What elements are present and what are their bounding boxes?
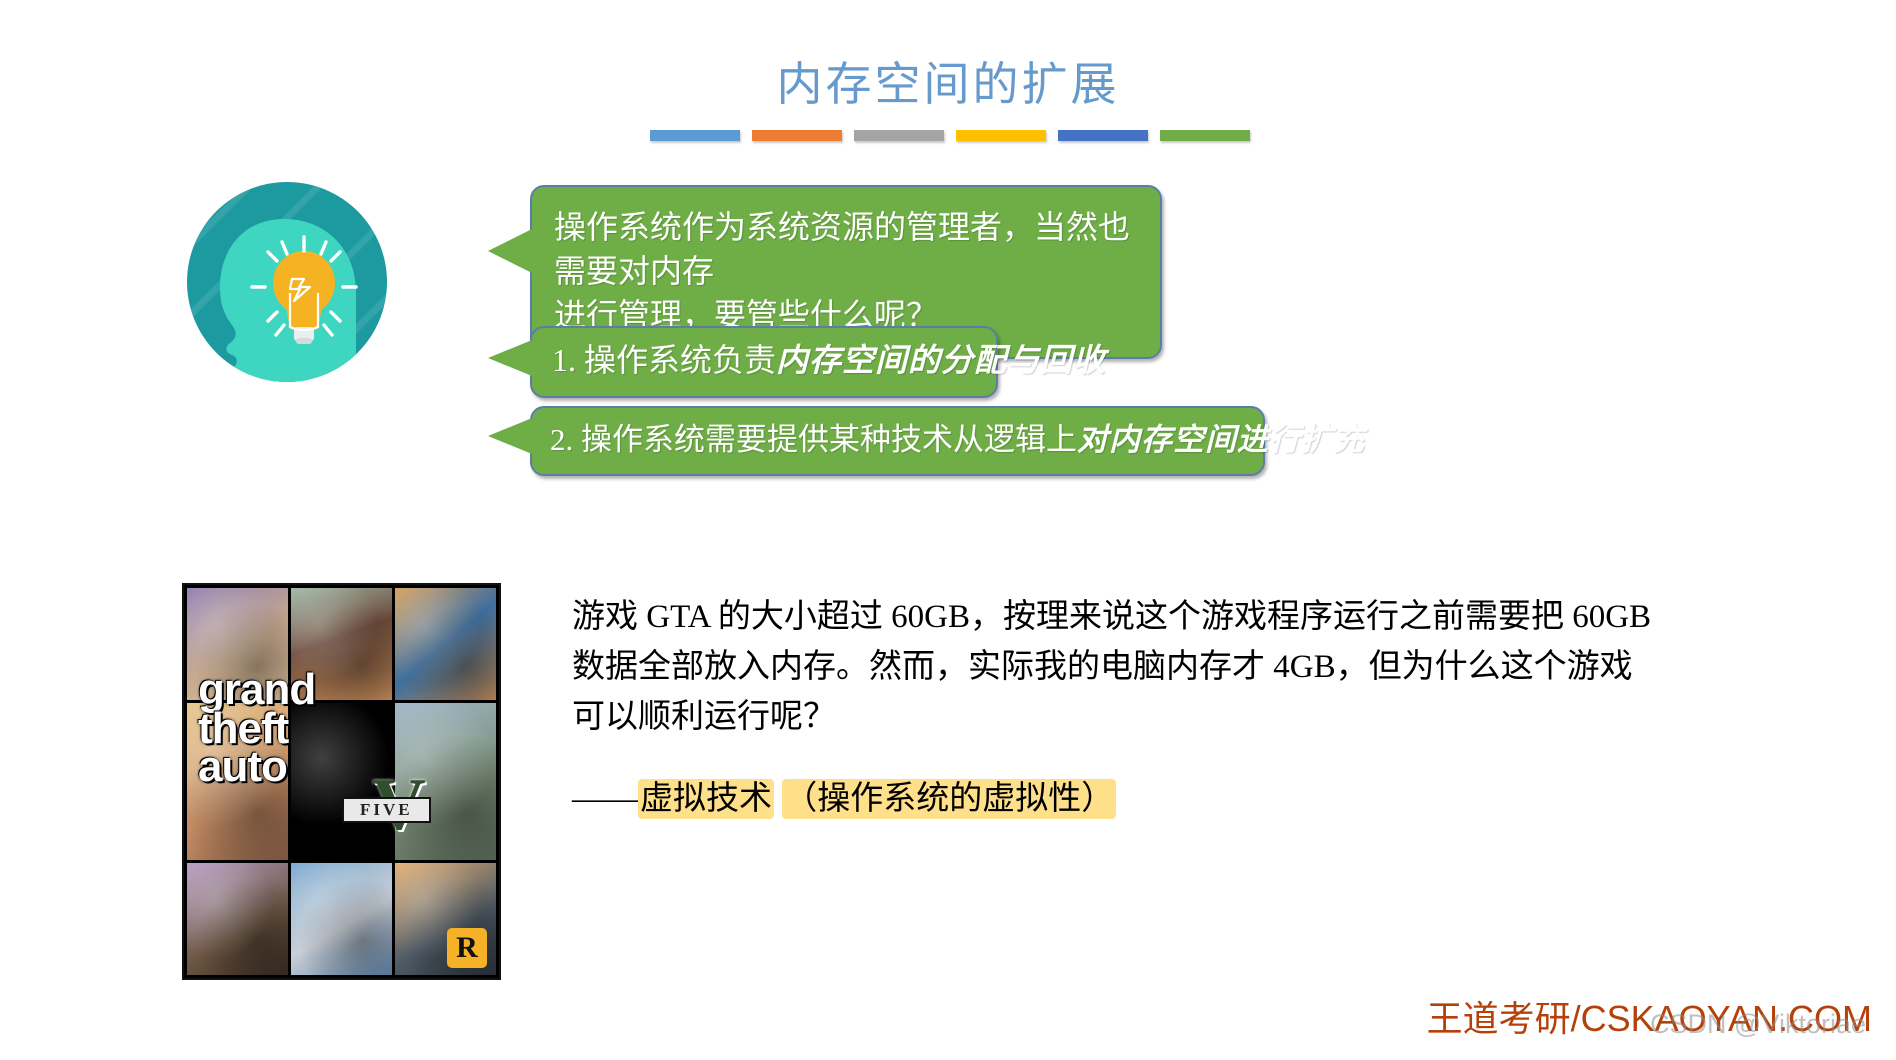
- title-bar-3: [854, 130, 944, 141]
- bubble-tail: [488, 340, 532, 376]
- speech-bubble-point-1: 1. 操作系统负责内存空间的分配与回收: [530, 326, 998, 398]
- bubble-3-emphasis: 对内存空间进行扩充: [1077, 422, 1365, 457]
- speech-bubble-point-2: 2. 操作系统需要提供某种技术从逻辑上对内存空间进行扩充: [530, 406, 1265, 476]
- page-title: 内存空间的扩展: [0, 48, 1896, 114]
- cover-panel-blonde-woman-phone: [187, 703, 288, 860]
- title-accent-bars: [650, 130, 1250, 141]
- highlight-virtual-technology: 虚拟技术: [638, 779, 774, 819]
- cover-panel-rottweiler-dog: [187, 863, 288, 975]
- bubble-tail: [488, 229, 532, 273]
- paragraph-line-2: 数据全部放入内存。然而，实际我的电脑内存才 4GB，但为什么这个游戏: [572, 642, 1752, 692]
- em-dash: ——: [572, 781, 638, 817]
- highlight-os-virtuality: （操作系统的虚拟性）: [782, 779, 1116, 819]
- title-bar-2: [752, 130, 842, 141]
- gta-explanation-paragraph: 游戏 GTA 的大小超过 60GB，按理来说这个游戏程序运行之前需要把 60GB…: [572, 592, 1752, 742]
- cover-panel-jetski-rider: [291, 863, 392, 975]
- bubble-1-line-1: 操作系统作为系统资源的管理者，当然也需要对内存: [554, 205, 1138, 293]
- cover-panel-gas-mask: [291, 588, 392, 700]
- bubble-tail: [488, 418, 532, 454]
- gta-v-game-cover: grand theft auto V FIVE R: [182, 583, 501, 980]
- cover-panel-motorbike-chase: [395, 588, 496, 700]
- callout-gap: [774, 781, 782, 817]
- bubble-2-prefix: 1. 操作系统负责: [552, 342, 776, 378]
- cover-panel-logo: [291, 703, 392, 860]
- cover-panel-helicopter: [187, 588, 288, 700]
- brain-idea-icon: [180, 175, 395, 390]
- title-bar-1: [650, 130, 740, 141]
- cover-panel-sports-car: [395, 863, 496, 975]
- virtual-technology-callout: ——虚拟技术 （操作系统的虚拟性）: [572, 771, 1116, 819]
- paragraph-line-3: 可以顺利运行呢？: [572, 692, 1752, 742]
- title-bar-4: [956, 130, 1046, 141]
- paragraph-line-1: 游戏 GTA 的大小超过 60GB，按理来说这个游戏程序运行之前需要把 60GB: [572, 592, 1752, 642]
- title-bar-5: [1058, 130, 1148, 141]
- bubble-3-prefix: 2. 操作系统需要提供某种技术从逻辑上: [550, 422, 1077, 457]
- brand-watermark: 王道考研/CSKAOYAN.COM: [1427, 990, 1872, 1042]
- title-bar-6: [1160, 130, 1250, 141]
- bubble-2-emphasis: 内存空间的分配与回收: [776, 342, 1106, 378]
- cover-panel-trevor: [395, 703, 496, 860]
